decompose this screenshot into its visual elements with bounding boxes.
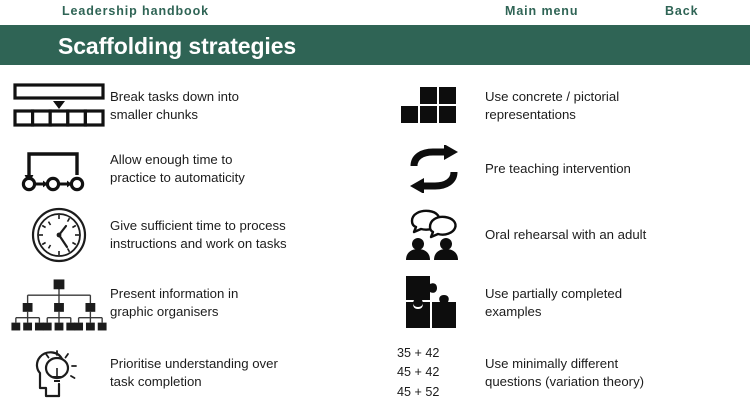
list-item[interactable]: Allow enough time to practice to automat… [0, 136, 375, 202]
list-item-label: Pre teaching intervention [485, 160, 637, 178]
label-line-1: Oral rehearsal with an adult [485, 226, 646, 244]
split-into-chunks-icon [0, 75, 110, 137]
list-item[interactable]: Use concrete / pictorial representations [375, 73, 750, 139]
head-lightbulb-icon [0, 342, 110, 404]
list-item-label: Allow enough time to practice to automat… [110, 151, 251, 187]
list-item-label: Give sufficient time to process instruct… [110, 217, 293, 253]
slide-title-bar: Scaffolding strategies [0, 25, 750, 65]
label-line-2: questions (variation theory) [485, 373, 644, 391]
blocks-icon [375, 75, 485, 137]
repeat-sequence-icon [0, 138, 110, 200]
list-item-label: Use concrete / pictorial representations [485, 88, 625, 124]
nav-back[interactable]: Back [665, 4, 698, 18]
list-item-label: Break tasks down into smaller chunks [110, 88, 245, 124]
label-line-1: Present information in [110, 285, 238, 303]
nav-leadership-handbook[interactable]: Leadership handbook [62, 4, 209, 18]
top-navigation-bar: Leadership handbook Main menu Back [0, 0, 750, 25]
puzzle-pieces-icon [375, 272, 485, 334]
label-line-2: representations [485, 106, 619, 124]
list-item[interactable]: Present information in graphic organiser… [0, 270, 375, 336]
math-line-1: 35 + 42 [397, 344, 439, 364]
math-line-3: 45 + 52 [397, 383, 439, 403]
label-line-2: graphic organisers [110, 303, 238, 321]
label-line-2: practice to automaticity [110, 169, 245, 187]
list-item-label: Use partially completed examples [485, 285, 628, 321]
list-item[interactable]: Prioritise understanding over task compl… [0, 340, 375, 406]
label-line-1: Allow enough time to [110, 151, 245, 169]
label-line-1: Use concrete / pictorial [485, 88, 619, 106]
label-line-1: Prioritise understanding over [110, 355, 278, 373]
right-strategy-column: Use concrete / pictorial representations… [375, 65, 750, 419]
list-item-label: Prioritise understanding over task compl… [110, 355, 284, 391]
math-equations-text: 35 + 42 45 + 42 45 + 52 [375, 342, 485, 404]
label-line-1: Use minimally different [485, 355, 644, 373]
nav-main-menu[interactable]: Main menu [505, 4, 578, 18]
label-line-2: instructions and work on tasks [110, 235, 287, 253]
list-item[interactable]: Pre teaching intervention [375, 136, 750, 202]
list-item[interactable]: 35 + 42 45 + 42 45 + 52 Use minimally di… [375, 340, 750, 406]
strategies-content: Break tasks down into smaller chunks [0, 65, 750, 419]
label-line-1: Break tasks down into [110, 88, 239, 106]
label-line-1: Pre teaching intervention [485, 160, 631, 178]
label-line-2: smaller chunks [110, 106, 239, 124]
list-item[interactable]: Use partially completed examples [375, 270, 750, 336]
two-people-speech-icon [375, 204, 485, 266]
page-title: Scaffolding strategies [58, 33, 296, 60]
list-item-label: Present information in graphic organiser… [110, 285, 244, 321]
list-item[interactable]: Give sufficient time to process instruct… [0, 202, 375, 268]
left-strategy-column: Break tasks down into smaller chunks [0, 65, 375, 419]
math-line-2: 45 + 42 [397, 363, 439, 383]
hierarchy-tree-icon [0, 272, 110, 334]
list-item-label: Oral rehearsal with an adult [485, 226, 652, 244]
label-line-2: task completion [110, 373, 278, 391]
list-item[interactable]: Oral rehearsal with an adult [375, 202, 750, 268]
loop-arrows-icon [375, 138, 485, 200]
clock-icon [0, 204, 110, 266]
list-item[interactable]: Break tasks down into smaller chunks [0, 73, 375, 139]
label-line-2: examples [485, 303, 622, 321]
list-item-label: Use minimally different questions (varia… [485, 355, 650, 391]
label-line-1: Use partially completed [485, 285, 622, 303]
label-line-1: Give sufficient time to process [110, 217, 287, 235]
